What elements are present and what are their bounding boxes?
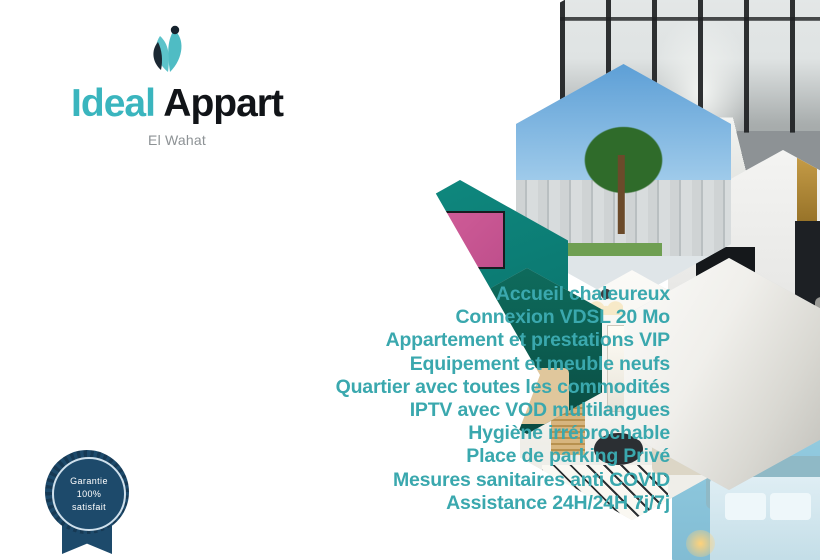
collage-tile-blue-bedroom: [672, 360, 820, 560]
feature-item: Equipement et meuble neufs: [20, 353, 670, 376]
apartment-block-palm-photo: [516, 64, 731, 304]
collage-tile-modern-living-room: [668, 150, 820, 404]
seal-inner: Garantie 100% satisfait: [52, 457, 126, 531]
feature-item: IPTV avec VOD multilangues: [20, 399, 670, 422]
brand-logo: Ideal Appart El Wahat: [52, 22, 302, 148]
feature-item: Quartier avec toutes les commodités: [20, 376, 670, 399]
leaf-figure-icon: [144, 22, 192, 78]
brand-name-part1: Ideal: [71, 82, 155, 125]
blue-bedroom-photo: [672, 360, 820, 560]
feature-item: Hygiène irréprochable: [20, 422, 670, 445]
promotional-poster: Ideal Appart El Wahat Accueil chaleureux…: [0, 0, 820, 560]
guarantee-seal-icon: Garantie 100% satisfait: [37, 450, 137, 555]
collage-tile-pergola-walkway: [560, 0, 820, 250]
feature-item: Accueil chaleureux: [20, 283, 670, 306]
brand-name-part2: Appart: [163, 82, 283, 125]
brand-subtitle: El Wahat: [52, 132, 302, 148]
feature-item: Appartement et prestations VIP: [20, 329, 670, 352]
seal-line-1: Garantie: [70, 475, 108, 488]
pergola-walkway-photo: [560, 0, 820, 250]
seal-outer-ring: Garantie 100% satisfait: [45, 450, 129, 534]
seal-line-3: satisfait: [72, 501, 106, 514]
modern-living-room-photo: [668, 150, 820, 404]
collage-tile-apartment-block-palm: [516, 64, 731, 304]
feature-item: Connexion VDSL 20 Mo: [20, 306, 670, 329]
brand-wordmark: Ideal Appart: [52, 84, 302, 123]
seal-line-2: 100%: [77, 488, 102, 501]
